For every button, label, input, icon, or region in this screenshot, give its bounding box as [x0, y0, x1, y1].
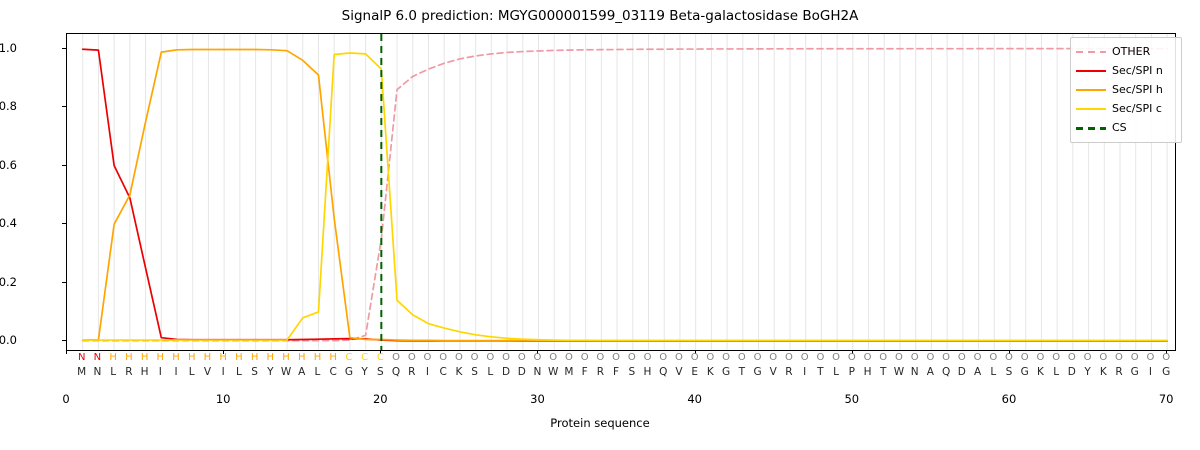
residue-label: L: [1053, 366, 1059, 378]
residue-label: I: [426, 366, 429, 378]
residue-label: M: [77, 366, 86, 378]
x-tick-label: 60: [1002, 392, 1017, 406]
region-label: O: [1162, 352, 1170, 363]
legend-item-sec-spi-h[interactable]: Sec/SPI h: [1076, 80, 1176, 99]
region-label: H: [125, 352, 133, 363]
region-label: O: [596, 352, 604, 363]
residue-label: W: [548, 366, 558, 378]
region-label: H: [204, 352, 212, 363]
legend-swatch-icon: [1076, 65, 1106, 77]
cleavage-site-marker: [67, 34, 1175, 350]
region-label: O: [1036, 352, 1044, 363]
legend-swatch-icon: [1076, 84, 1106, 96]
residue-label: D: [1068, 366, 1076, 378]
residue-label: V: [770, 366, 777, 378]
residue-label: N: [93, 366, 101, 378]
region-label: O: [675, 352, 683, 363]
y-tick-label: 0.4: [0, 216, 17, 230]
residue-label: N: [911, 366, 919, 378]
region-label: O: [392, 352, 400, 363]
residue-label: G: [1162, 366, 1170, 378]
residue-label: A: [974, 366, 981, 378]
region-label: O: [958, 352, 966, 363]
residue-label: R: [597, 366, 604, 378]
region-label: O: [722, 352, 730, 363]
residue-label: L: [990, 366, 996, 378]
page-title: SignalP 6.0 prediction: MGYG000001599_03…: [0, 8, 1200, 24]
region-label: N: [78, 352, 85, 363]
legend-item-sec-spi-n[interactable]: Sec/SPI n: [1076, 61, 1176, 80]
residue-label: F: [613, 366, 619, 378]
region-label: H: [282, 352, 290, 363]
x-tick-label: 50: [844, 392, 859, 406]
region-label: O: [1052, 352, 1060, 363]
region-label: H: [267, 352, 275, 363]
residue-label: V: [204, 366, 211, 378]
residue-label: H: [864, 366, 872, 378]
residue-label: Q: [942, 366, 950, 378]
residue-label: K: [707, 366, 714, 378]
region-label: O: [612, 352, 620, 363]
residue-label: K: [1100, 366, 1107, 378]
legend-swatch-icon: [1076, 122, 1106, 134]
region-label: O: [1084, 352, 1092, 363]
residue-label: S: [251, 366, 258, 378]
y-tick-label: 0.6: [0, 158, 17, 172]
region-label: O: [1131, 352, 1139, 363]
y-tick-label: 0.0: [0, 333, 17, 347]
residue-label: I: [1149, 366, 1152, 378]
region-label: O: [801, 352, 809, 363]
region-label: H: [172, 352, 180, 363]
residue-label: G: [1021, 366, 1029, 378]
residue-label: K: [1037, 366, 1044, 378]
residue-label: F: [582, 366, 588, 378]
region-label: O: [942, 352, 950, 363]
region-label: O: [816, 352, 824, 363]
legend-label: OTHER: [1112, 45, 1150, 58]
legend[interactable]: OTHERSec/SPI nSec/SPI hSec/SPI cCS: [1070, 37, 1182, 143]
region-label: O: [738, 352, 746, 363]
region-label: H: [141, 352, 149, 363]
residue-label: S: [471, 366, 478, 378]
residue-label: I: [159, 366, 162, 378]
residue-label: W: [281, 366, 291, 378]
region-label: O: [581, 352, 589, 363]
residue-label: T: [817, 366, 823, 378]
residue-label: A: [298, 366, 305, 378]
residue-label: R: [125, 366, 132, 378]
legend-item-other[interactable]: OTHER: [1076, 42, 1176, 61]
region-label: O: [911, 352, 919, 363]
legend-label: Sec/SPI h: [1112, 83, 1163, 96]
region-label: C: [361, 352, 368, 363]
region-label: O: [549, 352, 557, 363]
region-label: O: [848, 352, 856, 363]
region-label: H: [157, 352, 165, 363]
region-label: O: [785, 352, 793, 363]
legend-swatch-icon: [1076, 46, 1106, 58]
residue-label: I: [803, 366, 806, 378]
region-label: O: [439, 352, 447, 363]
residue-label: S: [377, 366, 384, 378]
residue-label: R: [1115, 366, 1122, 378]
region-label: H: [109, 352, 117, 363]
residue-label: Q: [392, 366, 400, 378]
region-label: O: [471, 352, 479, 363]
residue-label: H: [141, 366, 149, 378]
residue-label: K: [455, 366, 462, 378]
legend-label: Sec/SPI c: [1112, 102, 1162, 115]
residue-label: N: [534, 366, 542, 378]
signalp-prediction-figure: SignalP 6.0 prediction: MGYG000001599_03…: [0, 0, 1200, 450]
plot-area: [66, 33, 1176, 351]
residue-label: L: [236, 366, 242, 378]
region-label: H: [235, 352, 243, 363]
residue-label: L: [487, 366, 493, 378]
residue-label: P: [849, 366, 855, 378]
y-tick-label: 0.8: [0, 99, 17, 113]
x-tick-label: 40: [687, 392, 702, 406]
region-label: O: [486, 352, 494, 363]
region-label: O: [502, 352, 510, 363]
region-label: O: [1005, 352, 1013, 363]
region-label: O: [1115, 352, 1123, 363]
residue-label: S: [1006, 366, 1013, 378]
residue-label: L: [833, 366, 839, 378]
region-label: O: [895, 352, 903, 363]
x-tick-label: 10: [216, 392, 231, 406]
region-label: O: [1099, 352, 1107, 363]
residue-label: A: [927, 366, 934, 378]
region-label: H: [188, 352, 196, 363]
region-label: N: [94, 352, 101, 363]
region-label: O: [659, 352, 667, 363]
x-tick-label: 20: [373, 392, 388, 406]
residue-label: V: [675, 366, 682, 378]
residue-label: L: [315, 366, 321, 378]
region-label: O: [534, 352, 542, 363]
region-label: O: [565, 352, 573, 363]
residue-label: H: [644, 366, 652, 378]
region-label: H: [329, 352, 337, 363]
residue-label: R: [785, 366, 792, 378]
residue-label: T: [739, 366, 745, 378]
y-tick-label: 1.0: [0, 41, 17, 55]
residue-label: C: [440, 366, 447, 378]
x-tick-label: 70: [1159, 392, 1174, 406]
residue-label: M: [564, 366, 573, 378]
region-label: H: [219, 352, 227, 363]
residue-label: G: [753, 366, 761, 378]
region-label: O: [1146, 352, 1154, 363]
region-label: O: [769, 352, 777, 363]
legend-item-sec-spi-c[interactable]: Sec/SPI c: [1076, 99, 1176, 118]
region-label: O: [628, 352, 636, 363]
residue-label: I: [222, 366, 225, 378]
region-label: O: [832, 352, 840, 363]
residue-label: W: [894, 366, 904, 378]
region-label: O: [1021, 352, 1029, 363]
region-label: O: [518, 352, 526, 363]
residue-label: Y: [361, 366, 367, 378]
x-tick-label: 0: [62, 392, 69, 406]
region-label: O: [644, 352, 652, 363]
region-label: O: [754, 352, 762, 363]
x-tick-label: 30: [530, 392, 545, 406]
residue-label: L: [110, 366, 116, 378]
residue-label: Y: [267, 366, 273, 378]
y-tick-label: 0.2: [0, 275, 17, 289]
residue-label: G: [345, 366, 353, 378]
region-label: O: [864, 352, 872, 363]
region-label: O: [879, 352, 887, 363]
residue-label: Y: [1084, 366, 1090, 378]
region-label: O: [1068, 352, 1076, 363]
region-label: O: [691, 352, 699, 363]
region-label: O: [408, 352, 416, 363]
residue-label: E: [691, 366, 698, 378]
residue-label: T: [880, 366, 886, 378]
region-label: H: [251, 352, 259, 363]
residue-label: G: [1131, 366, 1139, 378]
residue-label: C: [330, 366, 337, 378]
residue-label: S: [628, 366, 635, 378]
legend-label: Sec/SPI n: [1112, 64, 1163, 77]
residue-label: I: [174, 366, 177, 378]
region-label: O: [989, 352, 997, 363]
region-label: O: [974, 352, 982, 363]
residue-label: Q: [659, 366, 667, 378]
region-label: O: [455, 352, 463, 363]
region-label: H: [314, 352, 322, 363]
x-axis-label: Protein sequence: [0, 416, 1200, 430]
residue-label: D: [502, 366, 510, 378]
legend-swatch-icon: [1076, 103, 1106, 115]
residue-label: G: [722, 366, 730, 378]
legend-item-cs[interactable]: CS: [1076, 118, 1176, 137]
region-label: C: [345, 352, 352, 363]
residue-label: L: [189, 366, 195, 378]
residue-label: D: [958, 366, 966, 378]
residue-label: D: [518, 366, 526, 378]
region-label: C: [377, 352, 384, 363]
legend-label: CS: [1112, 121, 1127, 134]
residue-label: R: [408, 366, 415, 378]
region-label: O: [706, 352, 714, 363]
region-label: O: [926, 352, 934, 363]
region-label: O: [424, 352, 432, 363]
region-label: H: [298, 352, 306, 363]
